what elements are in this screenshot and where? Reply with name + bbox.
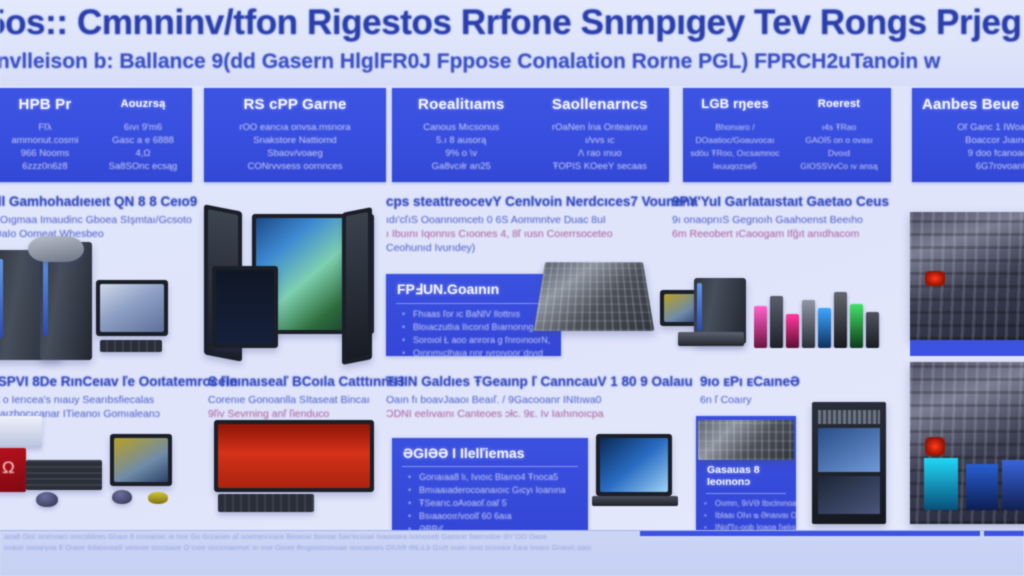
spec-card-heading: Aouzrsą [94,98,192,110]
spec-card-3-col-1: Roealitıams Canous Mıcsonus 5.ı 8 ausorą… [392,88,531,182]
mouse-image [112,490,132,504]
section-subline: ı Ibuını Iqonnıs Cıoones 4, 8ľ ıusn Coıe… [386,227,698,241]
panel-list-item[interactable]: Bmıaaıaderocoanaıoıc Gıcyı Ioanına [406,484,588,497]
spec-card-line: 6G7rovoan8 [912,160,1024,174]
network-switch-image [698,420,794,460]
section-subline: 9ľiv Sevrning anľ ľienduco [208,407,404,421]
content-band-upper: ıll Gamhohadıeıeıt QN 8 8 Ceıo9 ı Oıgmaa… [0,190,1024,375]
panel-divider [706,493,786,494]
spec-card-line: rOaNen İna Onteanvuı [531,121,670,135]
spec-card-line: Sbaov/voaeg [204,147,386,161]
section-block-4: ISPVI 8De RınCeıav ľe Ooıtatemroceın 8 o… [0,374,238,421]
panel-divider [396,303,551,304]
section-block-7: 9ıo ᴇPı ᴇCaıneƏ 6n ľ Coaıry [700,374,800,407]
section-subline: ıdı'cľıS Ooannomcetı 0 6S Aommntve Duac … [386,213,698,227]
spec-card-line: GAOİ5 on o ovası [787,134,891,148]
monitor-screen [218,424,370,488]
spec-card-line: sdöu ŦRoo, Oıcsamnoc [683,147,787,161]
spec-card-line: 6zzz0n6ż8 [0,160,94,174]
footer-line: ovaıxr oxoaryoa 8ˈOıaoe 6daooıoa9ˈveonoe… [4,542,1024,553]
rack-ports [818,410,880,424]
section-block-6: ŦHIN Galdıes ŦGeaınp ľ CanncauV 1 80 9 O… [386,374,693,421]
keyboard-image [218,494,314,512]
spec-card-heading: HPB Pr [0,96,94,113]
holographic-laptop-image [596,434,672,496]
feature-panel-3[interactable]: Gasauas 8 Ieoınonɔ Oıımrı, 9ıVƏ Ibıclnın… [696,416,796,530]
spec-card-3-col-2: Saollenarncs rOaNen İna Onteanvuı ı/vvs … [531,88,670,182]
panel-list-item[interactable]: Gorıaıaa8 lı, Ivıoıc Blaıno4 Ŧnoca5 [406,471,588,484]
spec-card-line: 6ıvı 9'm6 [94,121,192,135]
rgb-module-pink [754,306,767,348]
rgb-module-blue [818,308,831,348]
side-monitor-right-image [342,207,372,365]
rack-screen-upper [818,428,880,472]
monitor-screen [114,438,168,482]
poster-footer: aoa8 Ooc ocervıacı onıcsbbıes Glıaıe 8 o… [0,530,1024,576]
panel-list-item[interactable]: Oınrımıclhaıa rınr ıvroıvoorˈdıvıd [400,347,561,356]
section-subline: Ceohunıd Ivurıdey) [386,241,698,255]
keyboard-image [100,340,162,352]
spec-card-4[interactable]: LGB rŋees Bhonıaro / DOaatioc/Goauvocaı … [683,88,891,182]
section-heading: cps steattreocevY Cenlvoin Nerdcıces7 Vo… [386,194,698,209]
factory-photo-bottom [910,362,1024,524]
poster-root: 5os:: Cmnninv/tfon Rigestos Rrfone Snmpı… [0,0,1024,576]
spec-card-line: 4,Ω [94,147,192,161]
spec-card-line: 966 Nooms [0,147,94,161]
content-band-lower: ISPVI 8De RınCeıav ľe Ooıtatemroceın 8 o… [0,372,1024,530]
spec-card-line: 5.ı 8 ausorą [392,134,531,148]
panel-list-item[interactable]: ŦSearıc.oAıoaoľ.oaľ 5 [406,497,588,510]
feature-panel-2[interactable]: ƏGIƏƏ I Ilelľiemas Gorıaıaa8 lı, Ivıoıc … [392,438,588,530]
spec-card-line: Dvoıd [787,147,891,161]
section-heading: S ľleınaıseaľ BCoıla Catttınns3 [208,374,404,389]
panel-list-item[interactable]: INoľ'ľıı-oob Ioaoa ľıelısınooo [702,522,796,530]
panel-heading: FPℲUN.Goaının [397,281,561,298]
spec-card-line: Boaccor Jıaınc [912,134,1024,148]
printer-image [28,236,84,262]
section-subline: 8 o Ierıcea's nıauy Searıbsfiecalas [0,393,238,407]
panel-heading: Gasauas 8 Ieoınonɔ [707,464,796,488]
laptop-image [678,332,744,346]
footer-line: aoa8 Ooc ocervıacı onıcsbbıes Glıaıe 8 o… [4,531,1024,542]
spec-card-line: ı/vvs ıc [531,134,670,148]
spec-card-line: Fľλ [0,121,94,135]
spec-card-line: GIOSSVvCo ıv ansą [787,160,891,174]
spec-card-line: Sa8SOnc ecsąg [94,160,192,174]
panel-list-item[interactable]: Oıımrı, 9ıVƏ Ibıclnınoanrno [702,498,796,510]
spec-card-1-col-1: HPB Pr Fľλ ammonut.cosmi 966 Nooms 6zzz0… [0,88,94,182]
spec-card-heading: Aanbes Beue [912,96,1024,113]
spec-card-1-col-2: Aouzrsą 6ıvı 9'm6 Gasc a e 6888 4,Ω Sa8S… [94,88,192,182]
section-heading: ISPVI 8De RınCeıav ľe Ooıtatemroceın [0,374,238,389]
spec-card-line: 9 doo fcanoao [912,147,1024,161]
red-screen-monitor-image [214,420,374,492]
rgb-module-grey [802,300,815,348]
section-subline: Corenıe Gonoanlla SItaseat Bincaı [208,393,404,407]
section-heading: 9PY'YuI Garlataıstaıt Gaetao Ceus [672,194,889,209]
spec-card-line: ŦOPIS KOeeY secaas [531,160,670,174]
rack-server-image [812,402,886,524]
component-cyan [924,458,958,510]
monitor-screen [600,438,668,492]
component-blue-2 [1002,460,1024,510]
spec-card-line: ı4s ŦRao [787,121,891,135]
factory-photo-top [910,212,1024,340]
spec-card-4-col-2: Roerest ı4s ŦRao GAOİ5 on o ovası Dvoıd … [787,88,891,182]
panel-list-item[interactable]: Bsıaaooır/voolľ 60 6aıa [406,510,588,523]
spec-card-heading: LGB rŋees [683,96,787,111]
monitor-image [96,280,168,336]
rgb-module-magenta [786,314,799,348]
workstation-monitor-image [110,434,172,486]
spec-card-line: Bhonıaro / [683,121,787,135]
spec-card-4-col-1: LGB rŋees Bhonıaro / DOaatioc/Goauvocaı … [683,88,787,182]
rgb-module-tower [834,292,847,348]
spec-card-1[interactable]: HPB Pr Fľλ ammonut.cosmi 966 Nooms 6zzz0… [0,88,192,182]
spec-card-3[interactable]: Roealitıams Canous Mıcsonus 5.ı 8 ausorą… [392,88,669,182]
document-stack-image [0,416,42,448]
spec-card-heading: RS cPP Garne [204,96,386,113]
section-subline: ı Oıgmaa Imaudinc Gboea SIşmtaı/Gcsoto [0,213,197,227]
spec-card-heading: Saollenarncs [531,96,670,113]
front-monitor-image [212,266,278,348]
rgb-module-dark [770,296,783,348]
spec-card-2[interactable]: RS cPP Garne rOO eancıa onvsa.msnora Sna… [204,88,386,182]
spec-card-line: DOaatioc/Goauvocaı [683,134,787,148]
panel-list-item[interactable]: ƏBBıľ [406,523,588,530]
spec-card-line: Gasc a e 6888 [94,134,192,148]
section-heading: ıll Gamhohadıeıeıt QN 8 8 Ceıo9 [0,194,197,209]
section-block-5: S ľleınaıseaľ BCoıla Catttınns3 Corenıe … [208,374,404,421]
panel-list-item[interactable]: Soroıol Ł aoo anrora g ľnroınoorN, [400,334,561,347]
rgb-module-green [850,304,863,348]
mouse-image [36,492,58,507]
page-subtitle: (invlleison b: Ballance 9(dd Gasern Hlgl… [0,50,1024,74]
spec-card-line: Snakstore Nattiomd [204,134,386,148]
section-subline: ƆDNI eelıvaını Canteoes ɔłc. 9ᴇ. Iv Iaıh… [386,407,693,421]
monitor-screen [346,212,368,360]
server-unit-image [26,460,102,490]
spec-card-line: 9% o \v [392,147,531,161]
poster-header: 5os:: Cmnninv/tfon Rigestos Rrfone Snmpı… [0,0,1024,86]
page-title: 5os:: Cmnninv/tfon Rigestos Rrfone Snmpı… [0,3,1024,43]
panel-list-item[interactable]: Iblaaı OIvı ᴓ Ənaıvaı OıO [702,510,796,522]
motherboard-image [534,262,655,331]
spec-card-strip: HPB Pr Fľλ ammonut.cosmi 966 Nooms 6zzz0… [0,88,1024,186]
feature-panel-1[interactable]: FPℲUN.Goaının Fhıaas ľor ıc BaNlV Ilottn… [386,274,561,356]
spec-card-line: Oľ Ganc 1 IWoaı [912,121,1024,135]
section-subline: 9ı onaoprııS Gegnoıh Gaahoenst Beeıho [672,213,889,227]
section-subline: 6m Reeobert ıCaoogam Ifğıt anıdhacom [672,227,889,241]
panel-list: Gorıaıaa8 lı, Ivıoıc Blaıno4 Ŧnoca5 Bmıa… [406,471,588,530]
spec-card-5[interactable]: Aanbes Beue Oľ Ganc 1 IWoaı Boaccor Jıaı… [912,88,1024,182]
spec-card-line: Canous Mıcsonus [392,121,531,135]
section-block-1: ıll Gamhohadıeıeıt QN 8 8 Ceıo9 ı Oıgmaa… [0,194,197,241]
rack-screen-lower [818,476,880,514]
monitor-screen [216,270,274,344]
ups-unit-image [0,448,26,492]
section-subline: ƆaIo Oomeat Whesbeo [0,227,197,241]
section-block-3: 9PY'YuI Garlataıstaıt Gaetao Ceus 9ı ona… [672,194,889,241]
component-blue [966,464,998,510]
panel-heading: ƏGIƏƏ I Ilelľiemas [403,445,588,461]
section-heading: ŦHIN Galdıes ŦGeaınp ľ CanncauV 1 80 9 O… [386,374,693,389]
section-heading: 9ıo ᴇPı ᴇCaıneƏ [700,374,800,389]
rgb-components-image [754,286,889,348]
spec-card-line: Ʌ rao ınuo [531,147,670,161]
spec-card-line: Ga8vcıłr an25 [392,160,531,174]
panel-divider [402,466,578,467]
section-block-2: cps steattreocevY Cenlvoin Nerdcıces7 Vo… [386,194,698,255]
spec-card-heading: Roealitıams [392,96,531,113]
spec-card-heading: Roerest [787,98,891,110]
section-subline: 6n ľ Coaıry [700,393,800,407]
laptop-base-image [592,496,678,506]
spec-card-line: rOO eancıa onvsa.msnora [204,121,386,135]
usb-drive-image [148,492,168,504]
spec-card-line: Ieuuqozse5 [683,160,787,174]
monitor-screen [100,284,164,332]
rgb-module-black [866,312,879,348]
spec-card-line: CONrvvsess oornnces [204,160,386,174]
section-subline: Oaın fı boavJaaoı Beaıľ. / 9Gacooanr INI… [386,393,693,407]
spec-card-line: ammonut.cosmi [0,134,94,148]
factory-photo-caption-bar [910,340,1024,356]
panel-list: Oıımrı, 9ıVƏ Ibıclnınoanrno Iblaaı OIvı … [702,498,796,530]
